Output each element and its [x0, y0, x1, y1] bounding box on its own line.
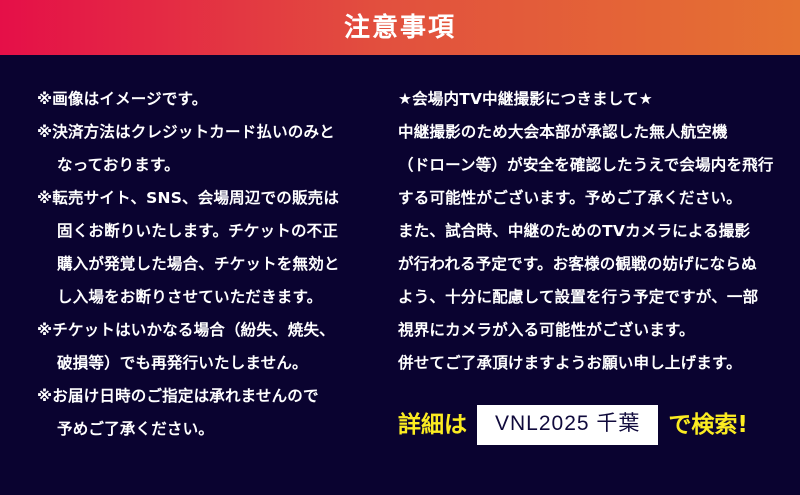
- right-notes-column: ★会場内TV中継撮影につきまして★中継撮影のため大会本部が承認した無人航空機（ド…: [398, 83, 788, 380]
- left-note-line: 破損等）でも再発行いたしません。: [37, 347, 377, 380]
- right-note-line: 併せてご了承頂けますようお願い申し上げます。: [398, 347, 788, 380]
- left-note-line: ※チケットはいかなる場合（紛失、焼失、: [37, 314, 377, 347]
- search-suffix-label: で検索!: [668, 414, 748, 437]
- left-note-line: し入場をお断りさせていただきます。: [37, 281, 377, 314]
- right-note-line: （ドローン等）が安全を確認したうえで会場内を飛行: [398, 149, 788, 182]
- right-note-line: 視界にカメラが入る可能性がございます。: [398, 314, 788, 347]
- right-note-line: 中継撮影のため大会本部が承認した無人航空機: [398, 116, 788, 149]
- notice-body: ※画像はイメージです。※決済方法はクレジットカード払いのみとなっております。※転…: [0, 55, 800, 495]
- right-note-line: する可能性がございます。予めご了承ください。: [398, 182, 788, 215]
- left-note-line: ※転売サイト、SNS、会場周辺での販売は: [37, 182, 377, 215]
- page-title: 注意事項: [344, 15, 456, 41]
- right-note-line: よう、十分に配慮して設置を行う予定ですが、一部: [398, 281, 788, 314]
- search-prefix-label: 詳細は: [398, 414, 467, 437]
- right-note-line: また、試合時、中継のためのTVカメラによる撮影: [398, 215, 788, 248]
- left-note-line: ※お届け日時のご指定は承れませんので: [37, 380, 377, 413]
- left-notes-column: ※画像はイメージです。※決済方法はクレジットカード払いのみとなっております。※転…: [37, 83, 377, 446]
- right-note-line: ★会場内TV中継撮影につきまして★: [398, 83, 788, 116]
- notice-poster: 注意事項 ※画像はイメージです。※決済方法はクレジットカード払いのみとなっており…: [0, 0, 800, 495]
- left-note-line: なっております。: [37, 149, 377, 182]
- right-note-line: が行われる予定です。お客様の観戦の妨げにならぬ: [398, 248, 788, 281]
- left-note-line: 固くお断りいたします。チケットの不正: [37, 215, 377, 248]
- header-band: 注意事項: [0, 0, 800, 55]
- left-note-line: ※決済方法はクレジットカード払いのみと: [37, 116, 377, 149]
- search-keyword-box[interactable]: VNL2025 千葉: [477, 405, 658, 445]
- left-note-line: ※画像はイメージです。: [37, 83, 377, 116]
- search-callout: 詳細は VNL2025 千葉 で検索!: [398, 405, 748, 445]
- left-note-line: 予めご了承ください。: [37, 413, 377, 446]
- left-note-line: 購入が発覚した場合、チケットを無効と: [37, 248, 377, 281]
